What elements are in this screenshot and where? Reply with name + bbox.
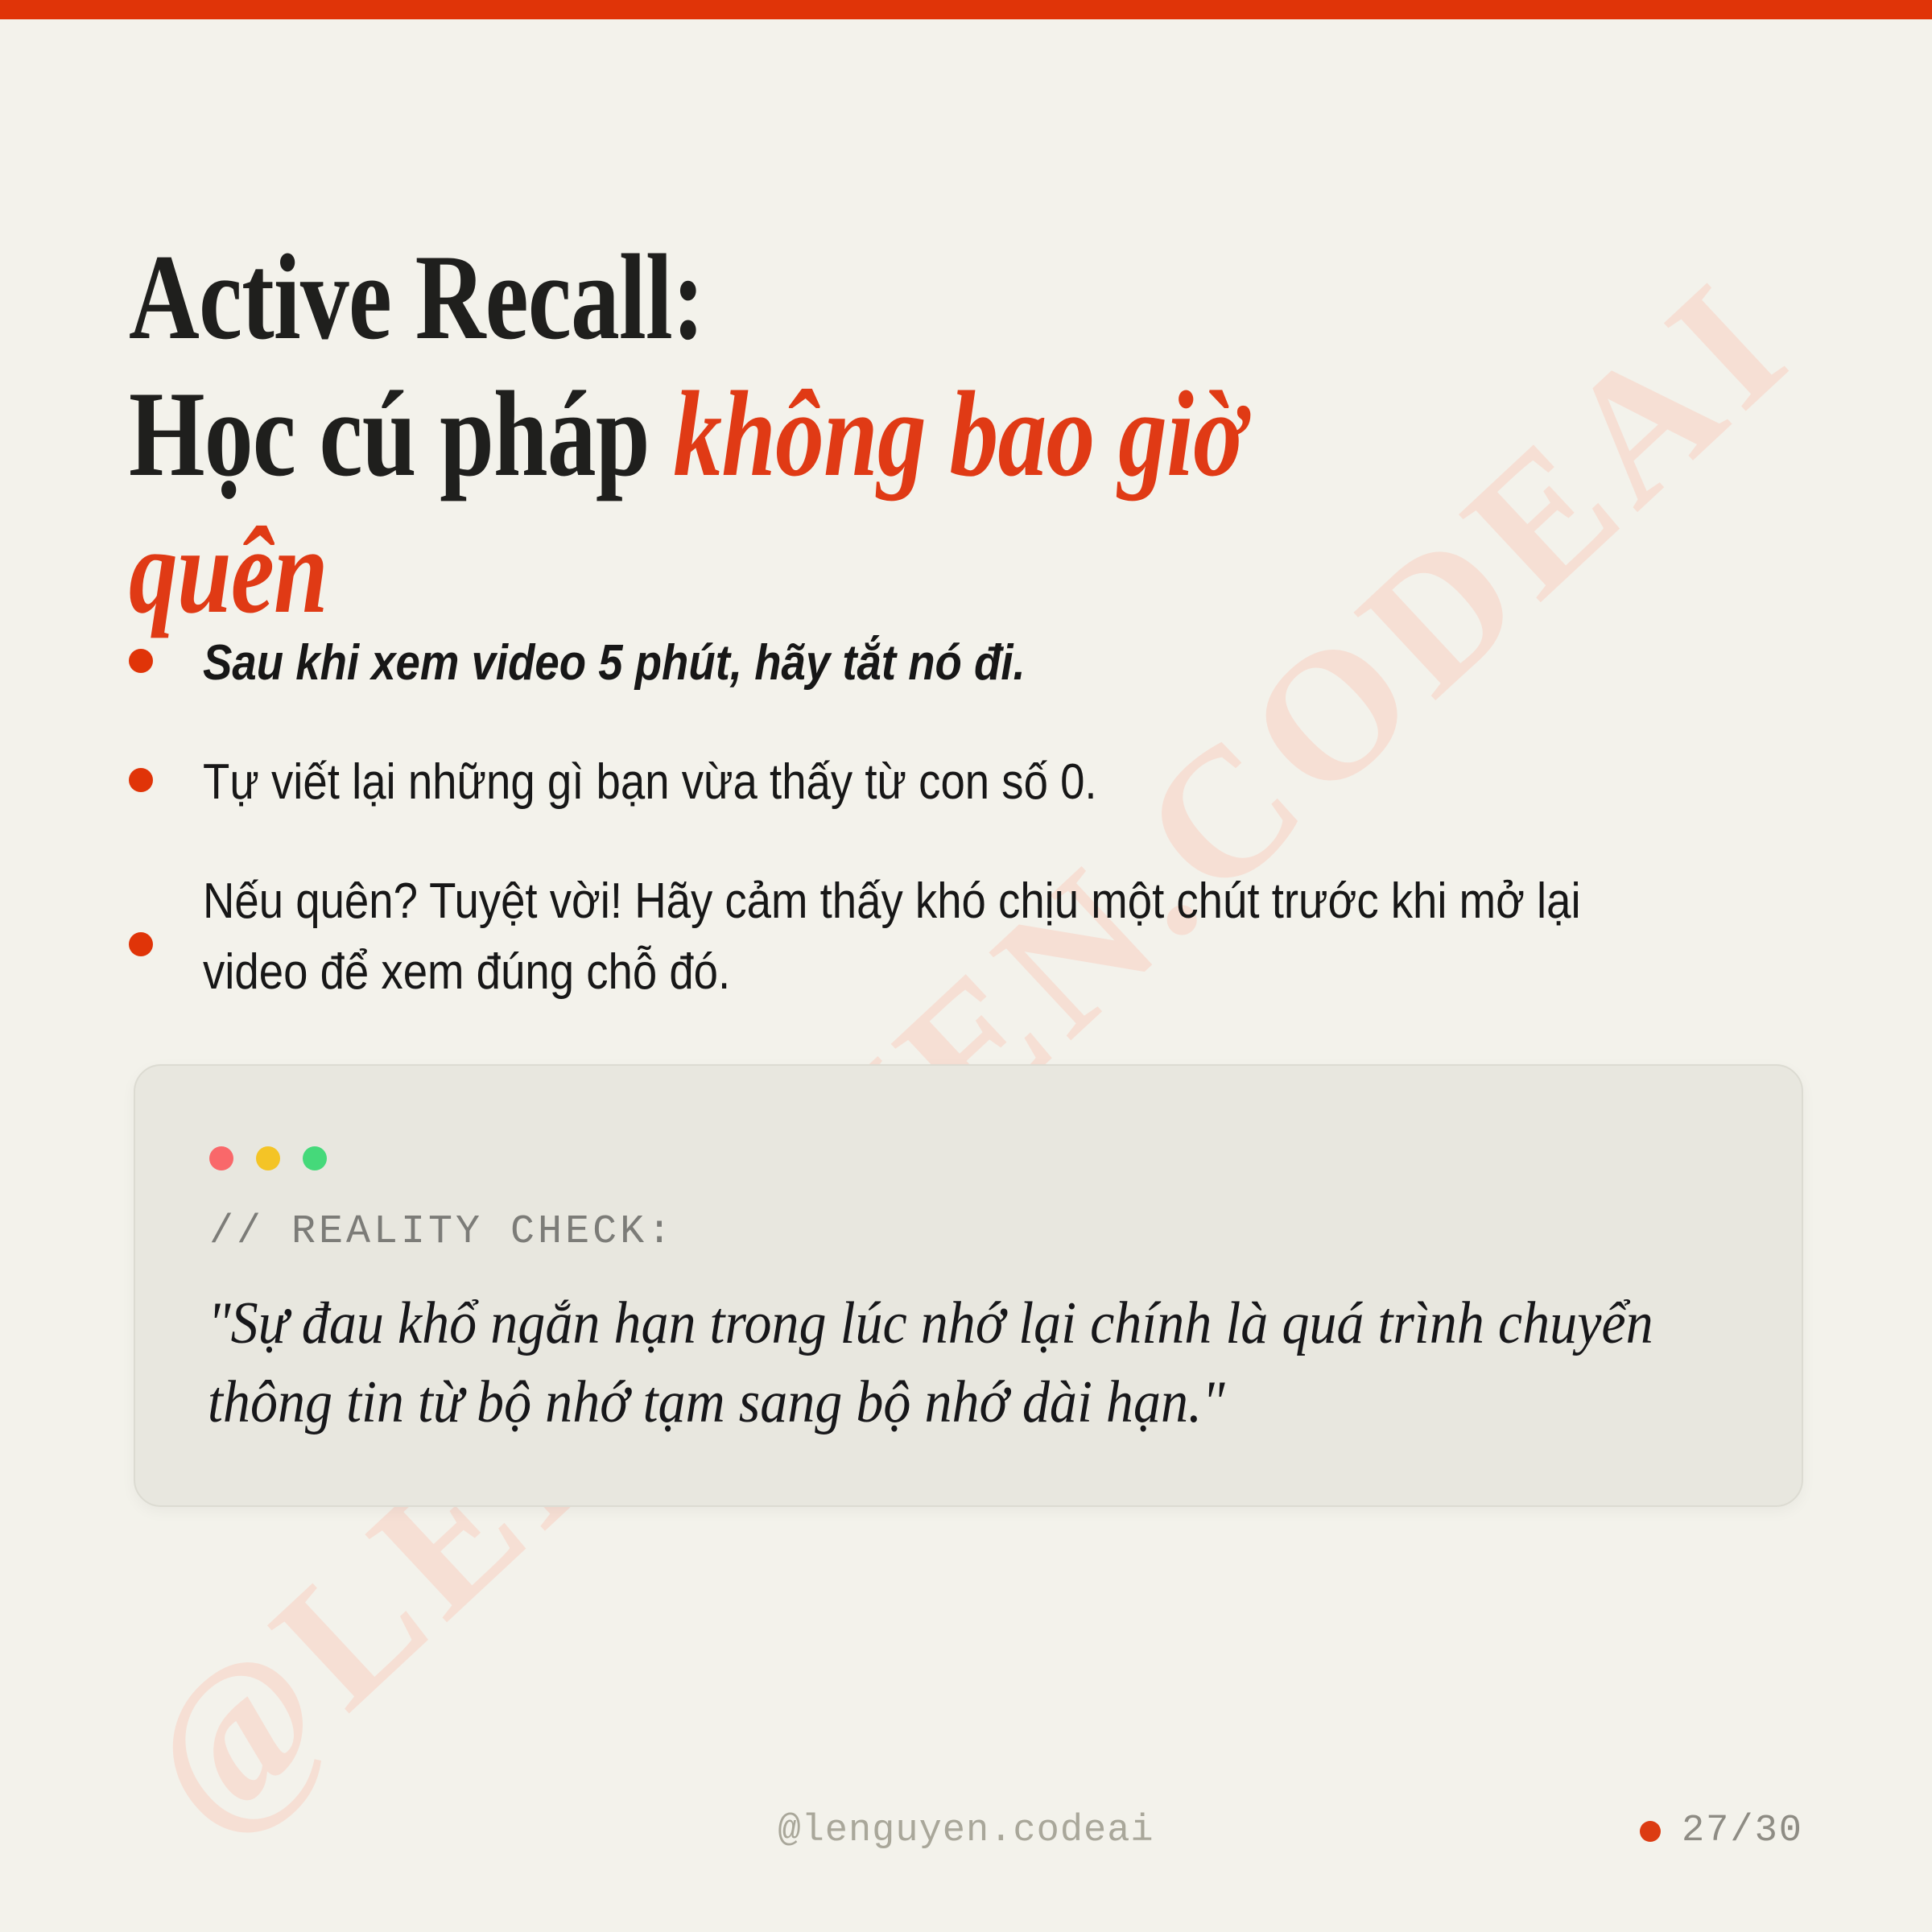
list-item-label: Nếu quên? Tuyệt vời! Hãy cảm thấy khó ch… [203, 866, 1611, 1008]
list-item: Sau khi xem video 5 phút, hãy tắt nó đi. [129, 628, 1803, 699]
list-item: Nếu quên? Tuyệt vời! Hãy cảm thấy khó ch… [129, 866, 1803, 1008]
page-counter-label: 27/30 [1682, 1810, 1803, 1852]
top-accent-bar [0, 0, 1932, 19]
title-line-3-accent: quên [129, 503, 328, 638]
bullet-list: Sau khi xem video 5 phút, hãy tắt nó đi.… [129, 628, 1803, 1008]
bullet-dot-icon [129, 768, 153, 792]
window-dots [209, 1146, 327, 1170]
page-dot-icon [1640, 1821, 1661, 1842]
footer-page-indicator: 27/30 [1640, 1810, 1803, 1852]
maximize-dot-icon [303, 1146, 327, 1170]
bullet-dot-icon [129, 932, 153, 956]
minimize-dot-icon [256, 1146, 280, 1170]
list-item-label: Tự viết lại những gì bạn vừa thấy từ con… [203, 747, 1611, 818]
footer-handle: @lenguyen.codeai [778, 1810, 1154, 1852]
page-title: Active Recall: Học cú pháp không bao giờ… [129, 229, 1784, 640]
quote-text: "Sự đau khổ ngắn hạn trong lúc nhớ lại c… [208, 1285, 1785, 1442]
bullet-dot-icon [129, 649, 153, 673]
title-line-2-plain: Học cú pháp [129, 366, 673, 502]
code-comment-label: // REALITY CHECK: [209, 1209, 675, 1255]
close-dot-icon [209, 1146, 233, 1170]
list-item: Tự viết lại những gì bạn vừa thấy từ con… [129, 747, 1803, 818]
list-item-label: Sau khi xem video 5 phút, hãy tắt nó đi. [203, 628, 1611, 699]
code-card: // REALITY CHECK: "Sự đau khổ ngắn hạn t… [134, 1064, 1803, 1507]
slide-canvas: @LENGUYEN.CODEAI Active Recall: Học cú p… [0, 0, 1932, 1932]
title-line-2-accent: không bao giờ [673, 366, 1245, 502]
slide-content: Active Recall: Học cú pháp không bao giờ… [0, 0, 1932, 1932]
title-line-1: Active Recall: [129, 229, 704, 365]
